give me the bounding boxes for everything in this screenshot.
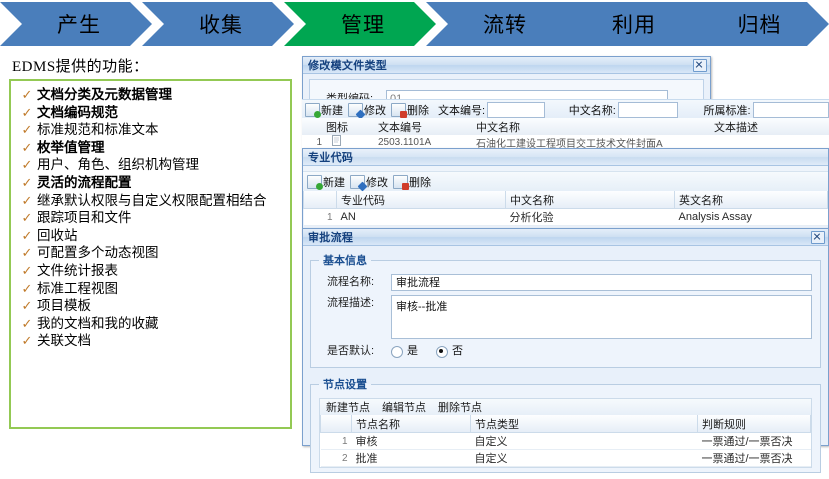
list-item: ✓ 文件统计报表 xyxy=(17,263,286,280)
edit-button[interactable]: 修改 xyxy=(348,102,386,118)
table-row[interactable]: 2 批准 自定义 一票通过/一票否决 xyxy=(321,450,811,467)
node-table: 节点名称 节点类型 判断规则 1 审核 自定义 一票通过/一票否决 xyxy=(320,415,811,467)
check-icon: ✓ xyxy=(17,157,37,174)
list-item: ✓ 标准规范和标准文本 xyxy=(17,122,286,139)
delete-icon xyxy=(391,103,406,117)
process-step-4[interactable]: 利用 xyxy=(555,2,707,46)
row-index: 1 xyxy=(302,137,326,148)
edit-button[interactable]: 修改 xyxy=(350,174,388,190)
col-node-type[interactable]: 节点类型 xyxy=(471,415,698,433)
row-node-name: 批准 xyxy=(352,450,471,467)
new-button-label: 新建 xyxy=(323,174,345,190)
check-icon: ✓ xyxy=(17,228,37,245)
new-button[interactable]: 新建 xyxy=(307,174,345,190)
close-icon[interactable] xyxy=(811,231,825,244)
process-step-label: 利用 xyxy=(606,9,656,39)
col-index xyxy=(321,415,352,433)
col-en-name[interactable]: 英文名称 xyxy=(675,191,828,209)
check-icon: ✓ xyxy=(17,210,37,227)
dialog-title-text: 修改模文件类型 xyxy=(308,57,693,73)
dialog-approval-flow[interactable]: 审批流程 基本信息 流程名称: 审批流程 流程描述: 审核--批准 是否默认: xyxy=(302,228,829,446)
feature-label: 文档编码规范 xyxy=(37,105,286,122)
flow-desc-label: 流程描述: xyxy=(319,295,391,312)
standard-label: 所属标准: xyxy=(703,102,750,118)
dialog-body: 基本信息 流程名称: 审批流程 流程描述: 审核--批准 是否默认: 是 否 xyxy=(303,246,828,479)
list-item: ✓ 我的文档和我的收藏 xyxy=(17,316,286,333)
col-text-code[interactable]: 文本编号 xyxy=(378,119,476,135)
feature-label: 回收站 xyxy=(37,228,286,245)
dialog-title-bar[interactable]: 专业代码 xyxy=(303,149,828,166)
new-node-button[interactable]: 新建节点 xyxy=(326,399,370,415)
check-icon: ✓ xyxy=(17,281,37,298)
major-toolbar: 新建 修改 删除 xyxy=(303,171,828,191)
feature-label: 枚举值管理 xyxy=(37,140,286,157)
list-item: ✓ 项目模板 xyxy=(17,298,286,315)
row-node-type: 自定义 xyxy=(471,433,698,450)
list-item: ✓ 枚举值管理 xyxy=(17,140,286,157)
row-node-type: 自定义 xyxy=(471,450,698,467)
table-header-row: 节点名称 节点类型 判断规则 xyxy=(321,415,811,433)
check-icon: ✓ xyxy=(17,140,37,157)
radio-no-label: 否 xyxy=(452,343,463,360)
default-radio-group: 是 否 xyxy=(391,343,477,360)
dialog-body: 新建 修改 删除 专业代码 中文名称 英文名称 xyxy=(303,166,828,226)
col-node-name[interactable]: 节点名称 xyxy=(352,415,471,433)
radio-yes-label: 是 xyxy=(407,343,418,360)
col-major-code[interactable]: 专业代码 xyxy=(337,191,506,209)
text-code-label: 文本编号: xyxy=(438,102,485,118)
edit-icon xyxy=(350,175,365,189)
check-icon: ✓ xyxy=(17,87,37,104)
list-item: ✓ 关联文档 xyxy=(17,333,286,350)
new-button[interactable]: 新建 xyxy=(305,102,343,118)
dialog-title-bar[interactable]: 修改模文件类型 xyxy=(303,57,710,74)
col-icon[interactable]: 图标 xyxy=(326,119,378,135)
row-cn-name: 分析化验 xyxy=(506,209,675,226)
process-step-2[interactable]: 管理 xyxy=(284,2,436,46)
check-icon: ✓ xyxy=(17,333,37,350)
row-index: 1 xyxy=(304,209,337,226)
feature-label: 文档分类及元数据管理 xyxy=(37,87,286,104)
text-code-input[interactable] xyxy=(487,102,545,118)
list-item: ✓ 回收站 xyxy=(17,228,286,245)
delete-button[interactable]: 删除 xyxy=(393,174,431,190)
left-panel-title: EDMS提供的功能： xyxy=(12,55,149,76)
flow-name-label: 流程名称: xyxy=(319,274,391,291)
feature-label: 标准规范和标准文本 xyxy=(37,122,286,139)
feature-label: 灵活的流程配置 xyxy=(37,175,286,192)
close-icon[interactable] xyxy=(693,59,707,72)
cn-name-input[interactable] xyxy=(618,102,679,118)
feature-list: ✓ 文档分类及元数据管理 ✓ 文档编码规范 ✓ 标准规范和标准文本 ✓ 枚举值管… xyxy=(11,81,290,350)
dialog-frame: 审批流程 基本信息 流程名称: 审批流程 流程描述: 审核--批准 是否默认: xyxy=(302,228,829,446)
edit-node-button[interactable]: 编辑节点 xyxy=(382,399,426,415)
flow-name-input[interactable]: 审批流程 xyxy=(391,274,812,291)
delete-button-label: 删除 xyxy=(409,174,431,190)
standard-input[interactable] xyxy=(753,102,829,118)
node-toolbar: 新建节点 编辑节点 删除节点 xyxy=(319,398,812,415)
row-node-name: 审核 xyxy=(352,433,471,450)
edit-icon xyxy=(348,103,363,117)
feature-label: 跟踪项目和文件 xyxy=(37,210,286,227)
row-index: 2 xyxy=(321,450,352,467)
row-text-code: 2503.1101A xyxy=(378,137,476,148)
process-banner: 产生 收集 管理 流转 利用 归档 xyxy=(0,2,829,46)
list-item: ✓ 用户、角色、组织机构管理 xyxy=(17,157,286,174)
doc-icon xyxy=(326,135,378,149)
table-row[interactable]: 1 审核 自定义 一票通过/一票否决 xyxy=(321,433,811,450)
col-cn-name[interactable]: 中文名称 xyxy=(506,191,675,209)
check-icon: ✓ xyxy=(17,316,37,333)
row-en-name: Analysis Assay xyxy=(675,209,828,226)
list-item: ✓ 文档编码规范 xyxy=(17,105,286,122)
dialog-title-text: 审批流程 xyxy=(308,229,811,245)
feature-label: 项目模板 xyxy=(37,298,286,315)
check-icon: ✓ xyxy=(17,245,37,262)
flow-name-row: 流程名称: 审批流程 xyxy=(319,274,812,291)
check-icon: ✓ xyxy=(17,193,37,210)
check-icon: ✓ xyxy=(17,175,37,192)
col-text-desc[interactable]: 文本描述 xyxy=(714,119,829,135)
feature-label: 标准工程视图 xyxy=(37,281,286,298)
doc-icon-svg xyxy=(332,135,341,146)
add-icon xyxy=(305,103,320,117)
process-step-3[interactable]: 流转 xyxy=(426,2,578,46)
node-settings-group: 节点设置 新建节点 编辑节点 删除节点 节点名称 节点类型 判断规则 xyxy=(310,376,821,473)
col-index xyxy=(304,191,337,209)
delete-icon xyxy=(393,175,408,189)
node-table-wrapper: 节点名称 节点类型 判断规则 1 审核 自定义 一票通过/一票否决 xyxy=(319,415,812,468)
row-major-code: AN xyxy=(337,209,506,226)
flow-default-row: 是否默认: 是 否 xyxy=(319,343,812,360)
delete-button-label: 删除 xyxy=(407,102,429,118)
row-cn-name: 石油化工建设工程项目交工技术文件封面A xyxy=(476,135,714,149)
flow-desc-row: 流程描述: 审核--批准 xyxy=(319,295,812,339)
feature-label: 我的文档和我的收藏 xyxy=(37,316,286,333)
list-item: ✓ 继承默认权限与自定义权限配置相结合 xyxy=(17,193,286,210)
cn-name-label: 中文名称: xyxy=(569,102,616,118)
filetype-grid-header: 图标 文本编号 中文名称 文本描述 xyxy=(302,118,829,136)
process-step-0[interactable]: 产生 xyxy=(0,2,152,46)
list-item: ✓ 可配置多个动态视图 xyxy=(17,245,286,262)
feature-label: 继承默认权限与自定义权限配置相结合 xyxy=(37,193,286,210)
process-step-label: 管理 xyxy=(335,9,385,39)
flow-desc-textarea[interactable]: 审核--批准 xyxy=(391,295,812,339)
delete-node-button[interactable]: 删除节点 xyxy=(438,399,482,415)
dialog-title-bar[interactable]: 审批流程 xyxy=(303,229,828,246)
table-header-row: 专业代码 中文名称 英文名称 xyxy=(304,191,828,209)
node-settings-legend: 节点设置 xyxy=(319,376,371,392)
dialog-frame: 专业代码 新建 修改 删除 xyxy=(302,148,829,234)
feature-list-box: ✓ 文档分类及元数据管理 ✓ 文档编码规范 ✓ 标准规范和标准文本 ✓ 枚举值管… xyxy=(9,79,292,429)
process-step-label: 收集 xyxy=(193,9,243,39)
flow-default-label: 是否默认: xyxy=(319,343,391,360)
delete-button[interactable]: 删除 xyxy=(391,102,429,118)
list-item: ✓ 文档分类及元数据管理 xyxy=(17,87,286,104)
process-step-label: 产生 xyxy=(51,9,101,39)
feature-label: 文件统计报表 xyxy=(37,263,286,280)
row-judge-rule: 一票通过/一票否决 xyxy=(698,433,811,450)
table-row[interactable]: 1 2503.1101A 石油化工建设工程项目交工技术文件封面A xyxy=(302,135,829,149)
basic-info-group: 基本信息 流程名称: 审批流程 流程描述: 审核--批准 是否默认: 是 否 xyxy=(310,252,821,368)
list-item: ✓ 标准工程视图 xyxy=(17,281,286,298)
edit-button-label: 修改 xyxy=(364,102,386,118)
process-step-label: 流转 xyxy=(477,9,527,39)
basic-info-legend: 基本信息 xyxy=(319,252,371,268)
row-index: 1 xyxy=(321,433,352,450)
check-icon: ✓ xyxy=(17,105,37,122)
feature-label: 用户、角色、组织机构管理 xyxy=(37,157,286,174)
add-icon xyxy=(307,175,322,189)
feature-label: 可配置多个动态视图 xyxy=(37,245,286,262)
check-icon: ✓ xyxy=(17,298,37,315)
dialog-title-text: 专业代码 xyxy=(308,149,825,165)
radio-no[interactable] xyxy=(436,346,448,358)
check-icon: ✓ xyxy=(17,263,37,280)
feature-label: 关联文档 xyxy=(37,333,286,350)
col-judge-rule[interactable]: 判断规则 xyxy=(698,415,811,433)
process-step-1[interactable]: 收集 xyxy=(142,2,294,46)
col-cn-name[interactable]: 中文名称 xyxy=(476,119,714,135)
list-item: ✓ 跟踪项目和文件 xyxy=(17,210,286,227)
new-button-label: 新建 xyxy=(321,102,343,118)
list-item: ✓ 灵活的流程配置 xyxy=(17,175,286,192)
radio-yes[interactable] xyxy=(391,346,403,358)
table-row[interactable]: 1 AN 分析化验 Analysis Assay xyxy=(304,209,828,226)
dialog-major-code[interactable]: 专业代码 新建 修改 删除 xyxy=(302,148,829,234)
check-icon: ✓ xyxy=(17,122,37,139)
major-code-table: 专业代码 中文名称 英文名称 1 AN 分析化验 Analysis Assay xyxy=(303,191,828,226)
row-judge-rule: 一票通过/一票否决 xyxy=(698,450,811,467)
edit-button-label: 修改 xyxy=(366,174,388,190)
filetype-search-toolbar: 新建 修改 删除 文本编号: 中文名称: 所属标准: xyxy=(302,99,829,120)
process-step-label: 归档 xyxy=(732,9,782,39)
